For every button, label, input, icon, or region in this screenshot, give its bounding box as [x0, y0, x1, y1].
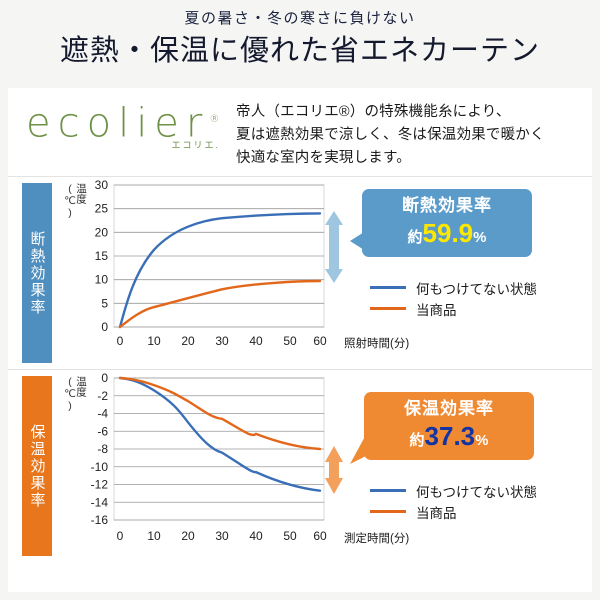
- legend-label: 何もつけてない状態: [416, 481, 537, 501]
- callout-insulation: 断熱効果率 約59.9%: [362, 189, 532, 257]
- tab-insulation-rate: 断熱効果率: [22, 183, 52, 363]
- svg-text:10: 10: [147, 334, 161, 348]
- svg-text:30: 30: [95, 178, 109, 192]
- legend-heat-retention: 何もつけてない状態 当商品: [370, 480, 537, 522]
- svg-text:50: 50: [283, 334, 297, 348]
- legend-swatch-blue-icon: [370, 489, 406, 492]
- legend-item: 当商品: [370, 501, 537, 522]
- svg-text:20: 20: [95, 225, 109, 239]
- legend-item: 何もつけてない状態: [370, 480, 537, 501]
- registered-mark-icon: ®: [209, 114, 219, 125]
- brand-description-line2: 夏は遮熱効果で涼しく、冬は保温効果で暖かく: [236, 124, 592, 147]
- legend-swatch-orange-icon: [370, 307, 406, 310]
- legend-label: 当商品: [416, 502, 457, 522]
- callout-heat-retention: 保温効果率 約37.3%: [364, 392, 534, 460]
- svg-text:20: 20: [181, 529, 195, 543]
- svg-text:30: 30: [215, 334, 229, 348]
- ecolier-logo: ecolier® エコリエ.: [22, 98, 236, 145]
- page-title: 遮熱・保温に優れた省エネカーテン: [0, 32, 600, 70]
- svg-text:-16: -16: [91, 513, 109, 527]
- svg-text:10: 10: [95, 273, 109, 287]
- legend-swatch-blue-icon: [370, 286, 406, 289]
- callout-insulation-unit: %: [473, 229, 486, 246]
- svg-text:60: 60: [313, 334, 327, 348]
- legend-insulation: 何もつけてない状態 当商品: [370, 277, 537, 319]
- svg-text:25: 25: [95, 202, 109, 216]
- brand-description-line1: 帝人（エコリエ®）の特殊機能糸により、: [236, 101, 592, 124]
- callout-insulation-prefix: 約: [408, 229, 423, 246]
- svg-text:-12: -12: [91, 478, 109, 492]
- brand-description-line3: 快適な室内を実現します。: [236, 147, 592, 170]
- callout-heat-retention-number: 37.3: [425, 421, 476, 451]
- svg-text:-10: -10: [91, 460, 109, 474]
- svg-text:-2: -2: [97, 389, 108, 403]
- legend-label: 当商品: [416, 299, 457, 319]
- svg-text:-4: -4: [97, 407, 108, 421]
- svg-text:0: 0: [101, 320, 108, 334]
- panel-insulation: 断熱効果率 温度(℃) 30 25 20 15 10 5: [18, 177, 582, 369]
- content-card: ecolier® エコリエ. 帝人（エコリエ®）の特殊機能糸により、 夏は遮熱効…: [8, 88, 592, 592]
- tab-heat-retention-rate: 保温効果率: [22, 376, 52, 556]
- chart-heat-retention: 温度(℃) 0 -2 -4 -6 -8 -10 -12: [62, 370, 582, 562]
- header-subtitle: 夏の暑さ・冬の寒さに負けない: [0, 8, 600, 30]
- logo-kana: エコリエ.: [171, 138, 220, 151]
- chart1-gap-arrow: [325, 211, 343, 283]
- chart-insulation: 温度(℃) 30 25 20 15 10 5 0: [62, 177, 582, 369]
- callout-insulation-number: 59.9: [423, 218, 474, 248]
- callout-insulation-title: 断熱効果率: [376, 196, 518, 216]
- svg-text:30: 30: [215, 529, 229, 543]
- svg-text:50: 50: [283, 529, 297, 543]
- callout-heat-retention-unit: %: [475, 432, 488, 449]
- chart2-x-axis-label: 測定時間(分): [344, 530, 409, 546]
- legend-item: 何もつけてない状態: [370, 277, 537, 298]
- chart2-gap-arrow: [325, 446, 343, 494]
- svg-text:5: 5: [101, 296, 108, 310]
- brand-row: ecolier® エコリエ. 帝人（エコリエ®）の特殊機能糸により、 夏は遮熱効…: [8, 88, 592, 176]
- svg-text:60: 60: [313, 529, 327, 543]
- svg-text:15: 15: [95, 249, 109, 263]
- svg-text:0: 0: [101, 371, 108, 385]
- svg-text:-14: -14: [91, 495, 109, 509]
- callout-heat-retention-title: 保温効果率: [378, 399, 520, 419]
- callout-heat-retention-prefix: 約: [410, 432, 425, 449]
- svg-text:20: 20: [181, 334, 195, 348]
- callout-insulation-value: 約59.9%: [376, 219, 518, 249]
- page-header: 夏の暑さ・冬の寒さに負けない 遮熱・保温に優れた省エネカーテン: [0, 0, 600, 86]
- svg-text:40: 40: [249, 529, 263, 543]
- callout-heat-retention-value: 約37.3%: [378, 422, 520, 452]
- chart1-x-axis-label: 照射時間(分): [344, 335, 409, 351]
- svg-text:40: 40: [249, 334, 263, 348]
- legend-item: 当商品: [370, 298, 537, 319]
- legend-swatch-orange-icon: [370, 510, 406, 513]
- svg-text:-8: -8: [97, 442, 108, 456]
- svg-text:-6: -6: [97, 424, 108, 438]
- svg-text:0: 0: [117, 334, 124, 348]
- panel-heat-retention: 保温効果率 温度(℃) 0 -2 -4 -6 -8 -10: [18, 370, 582, 562]
- legend-label: 何もつけてない状態: [416, 278, 537, 298]
- svg-text:0: 0: [117, 529, 124, 543]
- svg-text:10: 10: [147, 529, 161, 543]
- brand-description: 帝人（エコリエ®）の特殊機能糸により、 夏は遮熱効果で涼しく、冬は保温効果で暖か…: [236, 98, 592, 170]
